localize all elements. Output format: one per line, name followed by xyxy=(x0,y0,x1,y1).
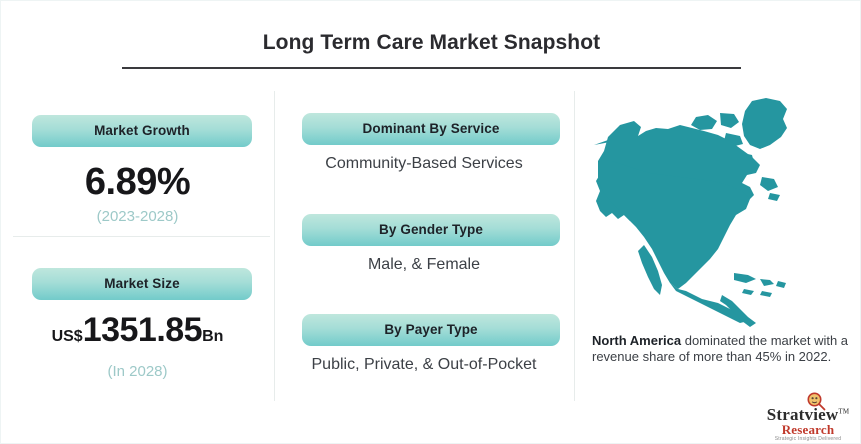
logo-tagline: Strategic Insights Delivered xyxy=(758,436,858,442)
north-america-map-icon xyxy=(584,95,834,327)
segment-pill-by-gender-type: By Gender Type xyxy=(302,214,560,246)
logo-trademark: TM xyxy=(838,407,849,415)
market-size-pill: Market Size xyxy=(32,268,252,300)
market-size-number: 1351.85 xyxy=(83,311,202,349)
header: Long Term Care Market Snapshot xyxy=(1,1,861,73)
title-divider xyxy=(122,67,741,69)
segment-value-by-payer-type: Public, Private, & Out-of-Pocket xyxy=(274,356,574,374)
segment-pill-dominant-by-service: Dominant By Service xyxy=(302,113,560,145)
market-size-value: US$1351.85Bn xyxy=(1,311,274,350)
region-note-region: North America xyxy=(592,333,681,348)
metrics-divider xyxy=(13,236,270,237)
market-growth-period: (2023-2028) xyxy=(1,208,274,225)
segment-pill-by-payer-type: By Payer Type xyxy=(302,314,560,346)
market-size-period: (In 2028) xyxy=(1,363,274,380)
brand-logo: StratviewTM Research Strategic Insights … xyxy=(758,393,858,443)
segments-column: Dominant By Service Community-Based Serv… xyxy=(274,83,574,444)
market-growth-pill: Market Growth xyxy=(32,115,252,147)
market-growth-value: 6.89% xyxy=(1,161,274,204)
segment-value-dominant-by-service: Community-Based Services xyxy=(274,155,574,173)
region-note: North America dominated the market with … xyxy=(592,333,850,365)
segment-value-by-gender-type: Male, & Female xyxy=(274,256,574,274)
market-size-unit: Bn xyxy=(202,328,223,345)
page-title: Long Term Care Market Snapshot xyxy=(1,31,861,55)
metrics-column: Market Growth 6.89% (2023-2028) Market S… xyxy=(1,83,274,444)
region-column: North America dominated the market with … xyxy=(574,83,861,444)
market-size-currency: US$ xyxy=(52,328,83,345)
content-columns: Market Growth 6.89% (2023-2028) Market S… xyxy=(1,83,861,444)
market-snapshot-infographic: Long Term Care Market Snapshot Market Gr… xyxy=(0,0,861,444)
